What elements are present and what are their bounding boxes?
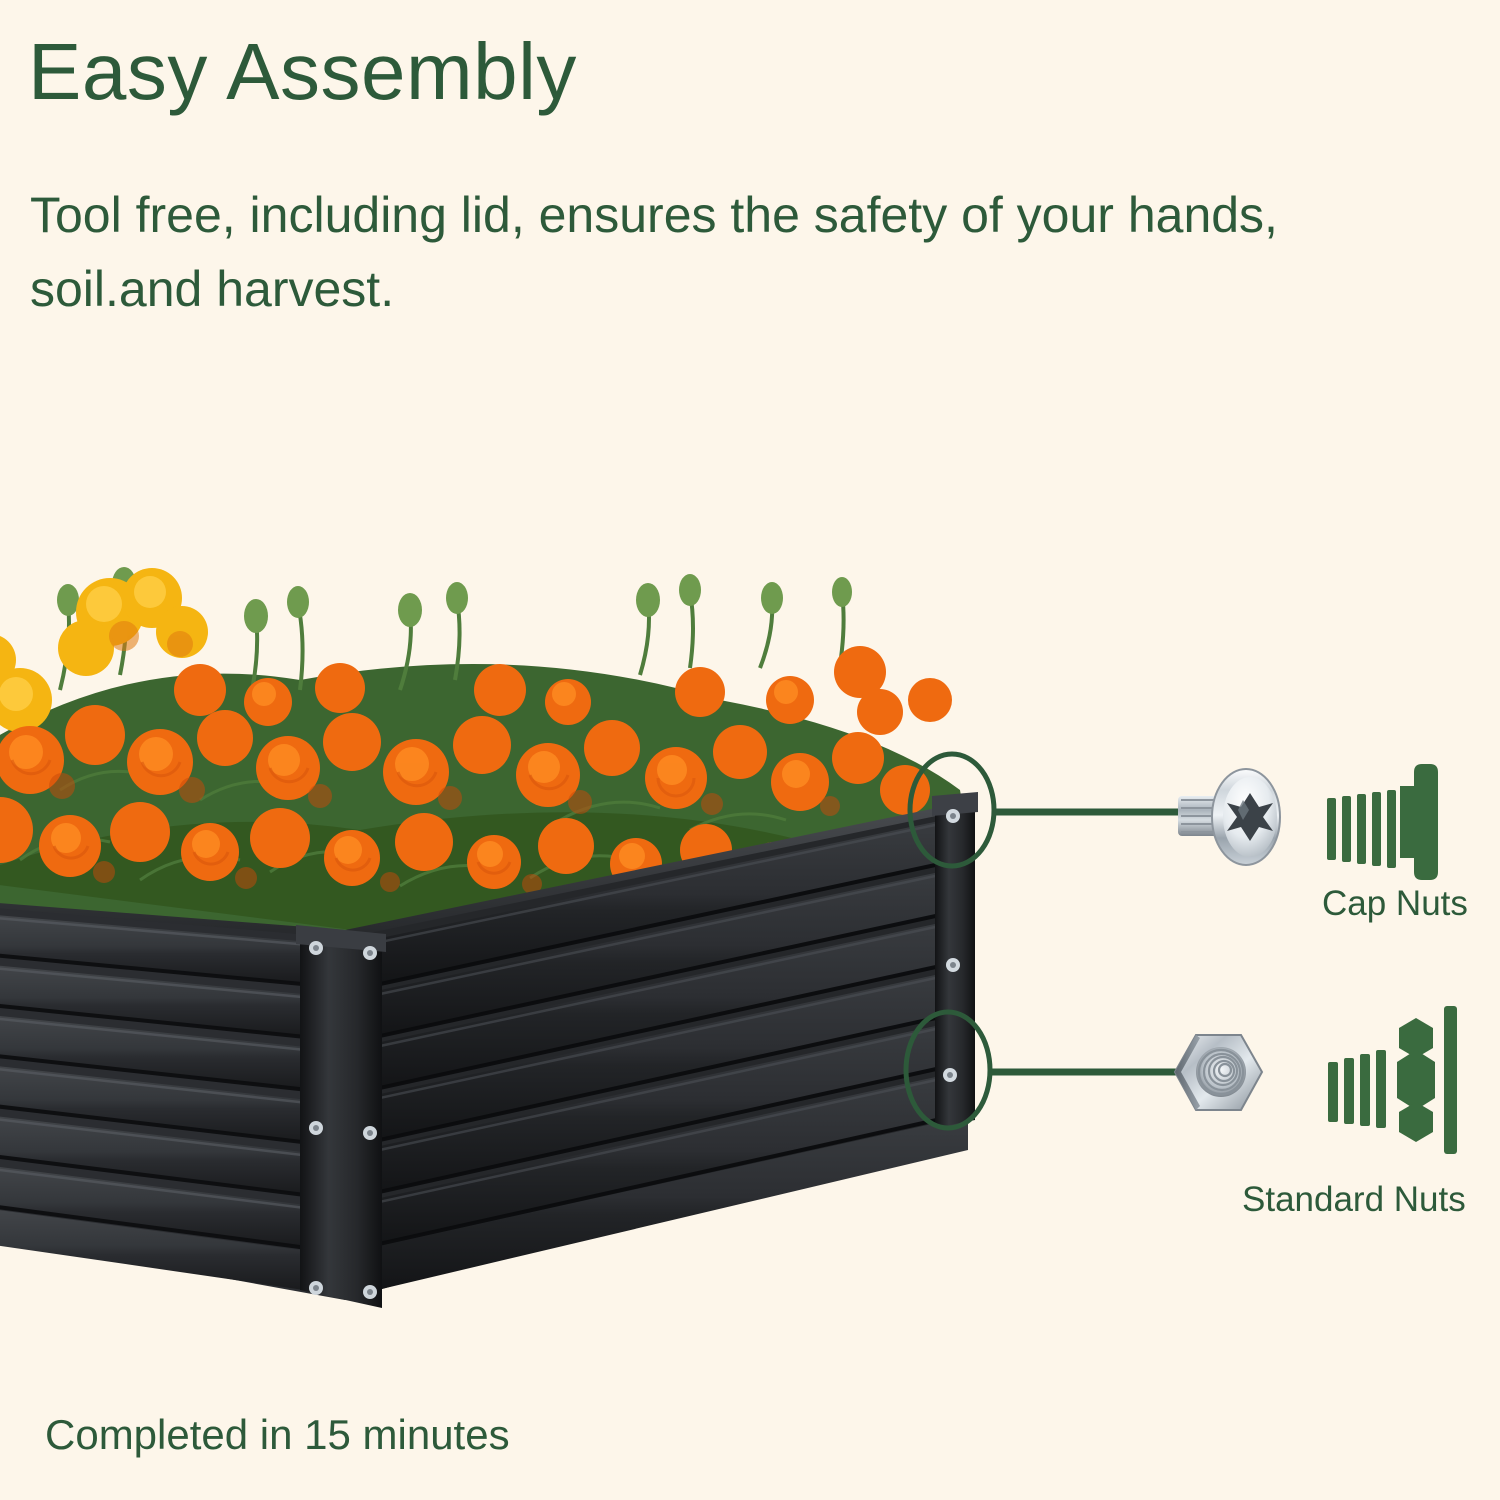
standard-nut-photo	[1175, 1035, 1262, 1110]
standard-nut-icon	[1328, 1006, 1457, 1154]
bed-corner-post-front	[296, 925, 386, 1308]
callout-cap-nuts	[910, 754, 1438, 880]
page-title: Easy Assembly	[28, 32, 577, 112]
infographic-canvas: Easy Assembly Tool free, including lid, …	[0, 0, 1500, 1500]
bed-front-left-panel	[0, 905, 345, 1300]
callout-label-cap-nuts: Cap Nuts	[1322, 884, 1468, 924]
assembly-time-note: Completed in 15 minutes	[45, 1412, 510, 1458]
cap-nut-photo	[1178, 769, 1280, 865]
callout-standard-nuts	[906, 1006, 1457, 1154]
callout-label-standard-nuts: Standard Nuts	[1242, 1180, 1466, 1220]
cap-nut-icon	[1327, 764, 1438, 880]
bed-corner-post-right	[932, 792, 978, 1128]
page-subtitle: Tool free, including lid, ensures the sa…	[30, 178, 1370, 326]
